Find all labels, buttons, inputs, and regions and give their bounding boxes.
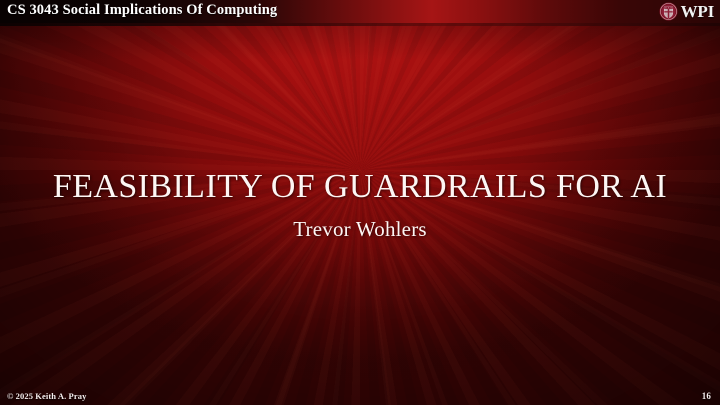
course-title: CS 3043 Social Implications Of Computing bbox=[7, 2, 277, 19]
copyright-notice: © 2025 Keith A. Pray bbox=[7, 391, 86, 401]
slide-subtitle-author: Trevor Wohlers bbox=[0, 217, 720, 242]
slide-title: FEASIBILITY OF GUARDRAILS FOR AI bbox=[0, 168, 720, 206]
header-underline bbox=[0, 23, 720, 26]
wpi-seal-icon bbox=[659, 2, 678, 21]
slide-content: FEASIBILITY OF GUARDRAILS FOR AI Trevor … bbox=[0, 26, 720, 385]
wpi-logo: WPI bbox=[659, 1, 714, 22]
slide-page-number: 16 bbox=[702, 391, 711, 401]
slide-header-bar: CS 3043 Social Implications Of Computing… bbox=[0, 0, 720, 23]
presentation-slide: CS 3043 Social Implications Of Computing… bbox=[0, 0, 720, 405]
wpi-wordmark: WPI bbox=[681, 2, 714, 21]
